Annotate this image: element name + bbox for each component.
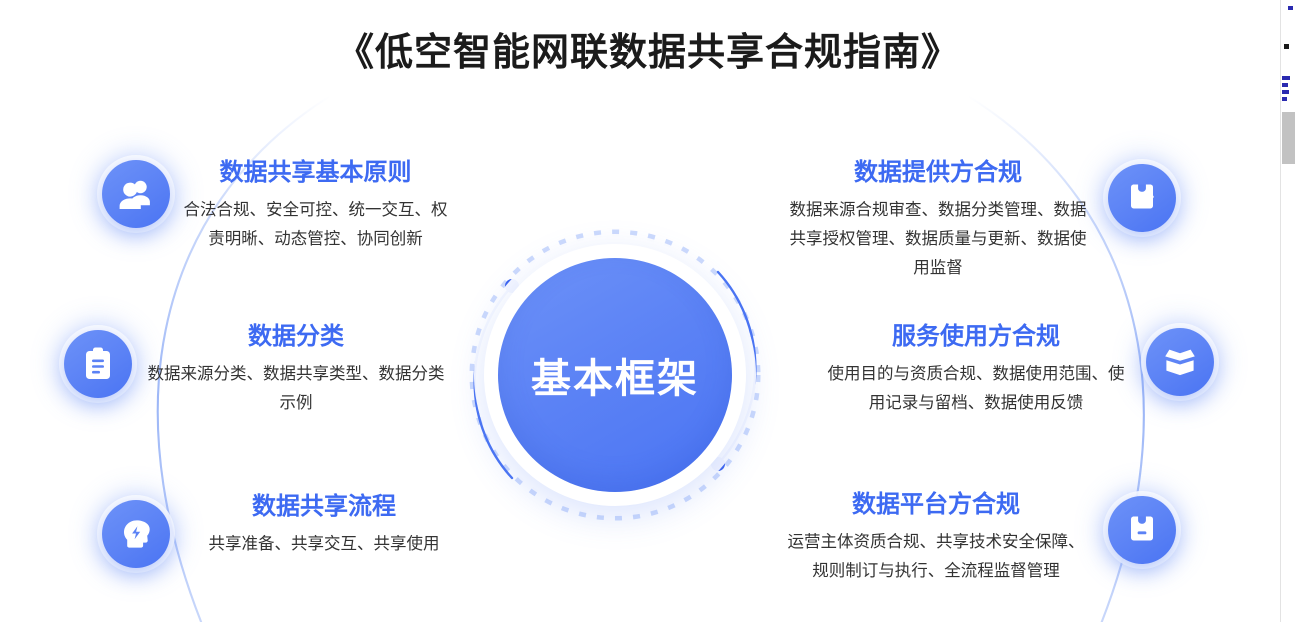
node-body: 使用目的与资质合规、数据使用范围、使用记录与留档、数据使用反馈 (826, 360, 1126, 418)
node-text-left-1: 数据共享基本原则 合法合规、安全可控、统一交互、权责明晰、动态管控、协同创新 (178, 158, 453, 254)
node-text-left-2: 数据分类 数据来源分类、数据共享类型、数据分类示例 (146, 322, 446, 418)
node-body: 共享准备、共享交互、共享使用 (178, 530, 470, 559)
node-text-right-1: 数据提供方合规 数据来源合规审查、数据分类管理、数据共享授权管理、数据质量与更新… (788, 158, 1088, 283)
node-body: 运营主体资质合规、共享技术安全保障、规则制订与执行、全流程监督管理 (782, 528, 1090, 586)
node-text-right-3: 数据平台方合规 运营主体资质合规、共享技术安全保障、规则制订与执行、全流程监督管… (782, 490, 1090, 586)
open-box-icon (1162, 347, 1198, 377)
page-title: 《低空智能网联数据共享合规指南》 (0, 30, 1296, 78)
node-icon-users[interactable] (102, 160, 170, 228)
hub-label: 基本框架 (531, 346, 699, 404)
node-text-right-2: 服务使用方合规 使用目的与资质合规、数据使用范围、使用记录与留档、数据使用反馈 (826, 322, 1126, 418)
clipboard-lines-icon (83, 347, 113, 381)
node-icon-clipboard-check[interactable] (1108, 164, 1176, 232)
node-heading: 数据共享基本原则 (178, 158, 453, 188)
node-icon-clipboard-dash[interactable] (1108, 496, 1176, 564)
infographic-canvas: 《低空智能网联数据共享合规指南》 基本框架 数据共享基本原则 (0, 0, 1296, 622)
node-heading: 数据平台方合规 (782, 490, 1090, 520)
scroll-mark (1282, 97, 1287, 101)
node-icon-clipboard-lines[interactable] (64, 330, 132, 398)
clipboard-check-icon (1126, 182, 1158, 214)
clipboard-dash-icon (1126, 514, 1158, 546)
scrollbar-thumb[interactable] (1282, 112, 1295, 164)
node-heading: 数据提供方合规 (788, 158, 1088, 188)
node-icon-open-box[interactable] (1146, 328, 1214, 396)
node-heading: 数据分类 (146, 322, 446, 352)
users-icon (118, 178, 154, 210)
scroll-mark (1282, 83, 1288, 87)
scroll-mark (1288, 6, 1293, 10)
center-hub: 基本框架 (498, 258, 732, 492)
scroll-mark (1284, 44, 1289, 49)
node-body: 数据来源合规审查、数据分类管理、数据共享授权管理、数据质量与更新、数据使用监督 (788, 196, 1088, 283)
scroll-mark (1282, 90, 1289, 94)
head-bolt-icon (119, 518, 153, 550)
node-heading: 服务使用方合规 (826, 322, 1126, 352)
node-heading: 数据共享流程 (178, 492, 470, 522)
node-body: 数据来源分类、数据共享类型、数据分类示例 (146, 360, 446, 418)
scrollbar-annotation-marks (1282, 4, 1294, 114)
node-icon-head-bolt[interactable] (102, 500, 170, 568)
hub-circle: 基本框架 (498, 258, 732, 492)
node-text-left-3: 数据共享流程 共享准备、共享交互、共享使用 (178, 492, 470, 559)
node-body: 合法合规、安全可控、统一交互、权责明晰、动态管控、协同创新 (178, 196, 453, 254)
scroll-mark (1282, 76, 1290, 80)
